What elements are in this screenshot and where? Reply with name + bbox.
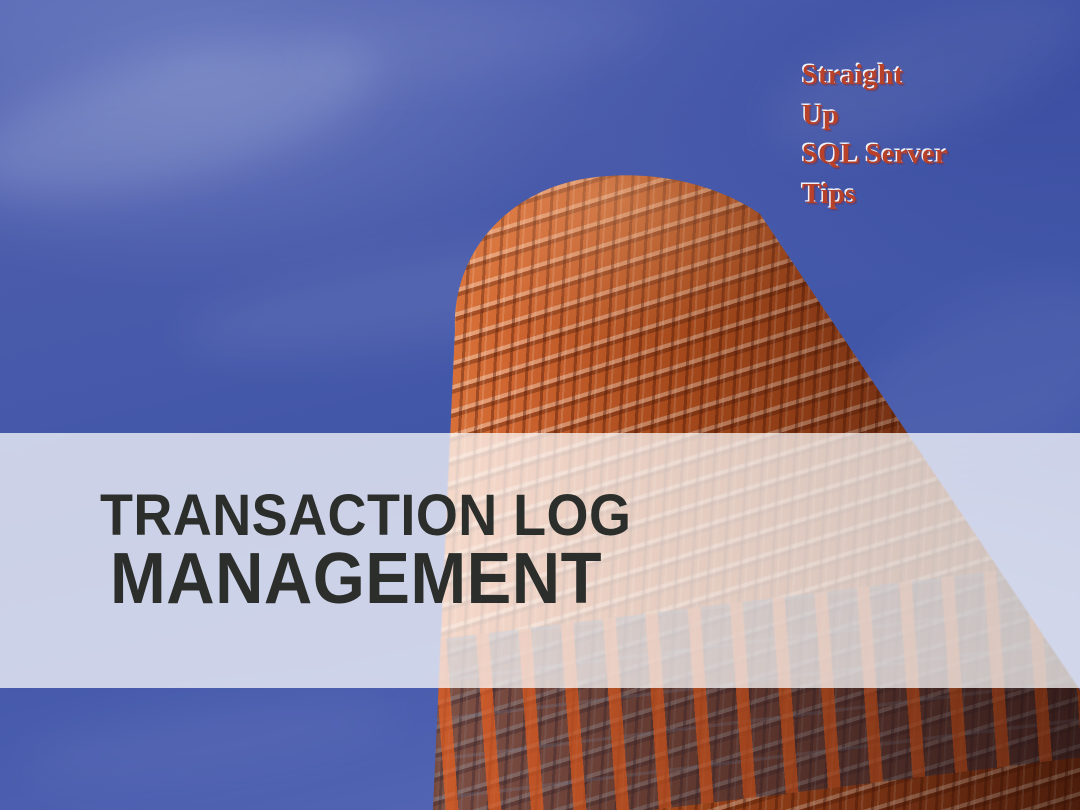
title-line-2: MANAGEMENT <box>110 546 808 612</box>
page-title: TRANSACTION LOG MANAGEMENT <box>100 489 860 613</box>
brand-line-1: Straight <box>802 56 1032 96</box>
brand-line-2: Up <box>802 96 1032 136</box>
title-line-1: TRANSACTION LOG <box>100 489 807 542</box>
poster-canvas: TRANSACTION LOG MANAGEMENT Straight Up S… <box>0 0 1080 810</box>
cloud-wisp <box>17 679 403 801</box>
brand-line-3: SQL Server <box>802 135 1032 175</box>
brand-wordmark: Straight Up SQL Server Tips <box>802 56 1032 215</box>
brand-line-4: Tips <box>802 175 1032 215</box>
